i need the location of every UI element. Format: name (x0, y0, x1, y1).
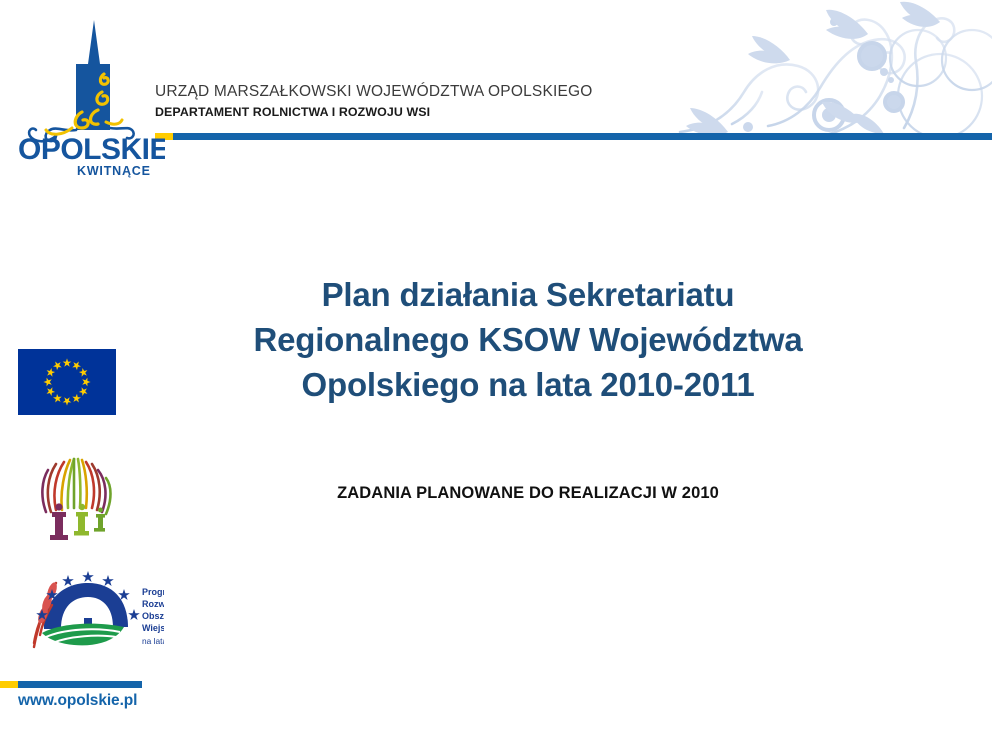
presentation-slide: OPOLSKIE KWITNĄCE URZĄD MARSZAŁKOWSKI WO… (0, 0, 992, 744)
organization-header: URZĄD MARSZAŁKOWSKI WOJEWÓDZTWA OPOLSKIE… (155, 82, 715, 121)
footer-website-url[interactable]: www.opolskie.pl (18, 692, 137, 710)
footer-rule-blue-segment (18, 681, 142, 688)
prow-logo: Program Rozwoju Obszarów Wiejskich na la… (12, 565, 164, 653)
footer-rule-yellow-segment (0, 681, 18, 688)
slide-subtitle-text: ZADANIA PLANOWANE DO REALIZACJI W 2010 (176, 484, 880, 503)
footer-divider-rule (0, 681, 142, 688)
department-name: DEPARTAMENT ROLNICTWA I ROZWOJU WSI (155, 103, 715, 121)
leader-logo (26, 450, 122, 540)
slide-title-line-1: Plan działania Sekretariatu (176, 272, 880, 317)
prow-text-line-2: Rozwoju (142, 599, 164, 609)
slide-title: Plan działania Sekretariatu Regionalnego… (176, 272, 880, 407)
organization-name: URZĄD MARSZAŁKOWSKI WOJEWÓDZTWA OPOLSKIE… (155, 82, 715, 102)
opolskie-kwitnace-logo: OPOLSKIE KWITNĄCE (10, 12, 165, 182)
floral-ornament (672, 0, 992, 140)
header-rule-blue-segment (173, 133, 992, 140)
logo-wordmark: OPOLSKIE (18, 133, 165, 166)
prow-text-line-1: Program (142, 587, 164, 597)
slide-title-line-2: Regionalnego KSOW Województwa (176, 317, 880, 362)
slide-title-line-3: Opolskiego na lata 2010-2011 (176, 362, 880, 407)
header-divider-rule (155, 133, 992, 140)
prow-text-line-3: Obszarów (142, 611, 164, 621)
prow-years-line: na lata 2007-2013 (142, 636, 164, 646)
prow-text-line-4: Wiejskich (142, 623, 164, 633)
eu-flag-logo (18, 349, 116, 415)
logo-tagline: KWITNĄCE (77, 164, 151, 178)
slide-subtitle: ZADANIA PLANOWANE DO REALIZACJI W 2010 (176, 484, 880, 503)
